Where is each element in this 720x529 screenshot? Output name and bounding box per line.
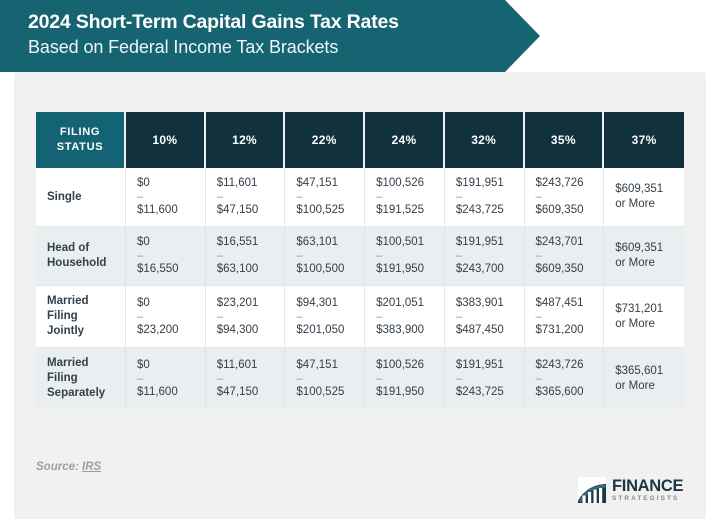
range-low: $63,101: [296, 235, 364, 250]
finance-strategists-logo: FINANCE STRATEGISTS: [578, 473, 688, 507]
cell-hoh-10: $0 – $16,550: [126, 227, 206, 286]
range-high: $191,950: [376, 262, 444, 277]
range-high: $243,725: [456, 203, 524, 218]
range-dash: –: [217, 250, 285, 262]
range-high: $47,150: [217, 385, 285, 400]
range-low: $47,151: [296, 176, 364, 191]
range-low: $243,726: [536, 358, 604, 373]
table-row: Married Filing Jointly $0 – $23,200 $23,…: [36, 286, 684, 348]
cell-hoh-22: $63,101 – $100,500: [285, 227, 365, 286]
range-low: $0: [137, 176, 205, 191]
table-row: Single $0 – $11,600 $11,601 – $47,150 $4…: [36, 168, 684, 227]
range-high: $47,150: [217, 203, 285, 218]
cell-single-35: $243,726 – $609,350: [525, 168, 605, 227]
cell-hoh-12: $16,551 – $63,100: [206, 227, 286, 286]
range-dash: –: [137, 373, 205, 385]
range-low: $11,601: [217, 358, 285, 373]
cell-mfj-10: $0 – $23,200: [126, 286, 206, 348]
filing-status-line-2: STATUS: [57, 141, 104, 153]
range-low: $191,951: [456, 235, 524, 250]
status-line: Filing: [47, 372, 78, 384]
row-label-married-filing-separately: Married Filing Separately: [36, 348, 126, 409]
range-low: $0: [137, 235, 205, 250]
range-high: $191,950: [376, 385, 444, 400]
cell-mfs-35: $243,726 – $365,600: [525, 348, 605, 409]
range-low: $47,151: [296, 358, 364, 373]
range-high: $609,350: [536, 262, 604, 277]
infographic-root: 2024 Short-Term Capital Gains Tax Rates …: [0, 0, 720, 529]
cell-single-24: $100,526 – $191,525: [365, 168, 445, 227]
range-dash: –: [536, 250, 604, 262]
range-low: $0: [137, 296, 205, 311]
cell-single-12: $11,601 – $47,150: [206, 168, 286, 227]
range-high: $11,600: [137, 203, 205, 218]
range-low: $23,201: [217, 296, 285, 311]
range-high: $609,350: [536, 203, 604, 218]
range-high: $383,900: [376, 323, 444, 338]
column-header-rate-32: 32%: [445, 112, 525, 168]
column-header-rate-22: 22%: [285, 112, 365, 168]
range-low: $201,051: [376, 296, 444, 311]
range-dash: –: [376, 373, 444, 385]
range-dash: –: [296, 311, 364, 323]
range-high: $201,050: [296, 323, 364, 338]
cell-mfj-12: $23,201 – $94,300: [206, 286, 286, 348]
cell-single-37: $609,351 or More: [604, 168, 684, 227]
column-header-rate-24: 24%: [365, 112, 445, 168]
logo-bar-chart-icon: [578, 475, 608, 505]
range-dash: –: [536, 373, 604, 385]
logo-subtitle: STRATEGISTS: [612, 496, 683, 502]
range-dash: –: [217, 191, 285, 203]
cell-mfj-22: $94,301 – $201,050: [285, 286, 365, 348]
range-dash: –: [217, 311, 285, 323]
cell-hoh-37: $609,351 or More: [604, 227, 684, 286]
cell-hoh-24: $100,501 – $191,950: [365, 227, 445, 286]
source-value: IRS: [82, 461, 101, 473]
cell-mfj-32: $383,901 – $487,450: [445, 286, 525, 348]
cell-mfj-24: $201,051 – $383,900: [365, 286, 445, 348]
range-low: $16,551: [217, 235, 285, 250]
range-low: $191,951: [456, 176, 524, 191]
range-low: $100,526: [376, 358, 444, 373]
status-line: Single: [47, 191, 82, 203]
range-high: $731,200: [536, 323, 604, 338]
table-row: Married Filing Separately $0 – $11,600 $…: [36, 348, 684, 409]
threshold-suffix: or More: [615, 256, 684, 271]
range-low: $100,526: [376, 176, 444, 191]
range-high: $243,725: [456, 385, 524, 400]
cell-single-22: $47,151 – $100,525: [285, 168, 365, 227]
range-high: $16,550: [137, 262, 205, 277]
range-dash: –: [376, 191, 444, 203]
range-dash: –: [456, 311, 524, 323]
table-header-row: FILING STATUS 10% 12% 22% 24% 32% 35% 37…: [36, 112, 684, 168]
logo-wordmark: FINANCE STRATEGISTS: [612, 478, 683, 502]
range-dash: –: [137, 250, 205, 262]
table-body: Single $0 – $11,600 $11,601 – $47,150 $4…: [36, 168, 684, 409]
range-low: $243,726: [536, 176, 604, 191]
range-dash: –: [376, 311, 444, 323]
column-header-rate-12: 12%: [206, 112, 286, 168]
banner-subtitle: Based on Federal Income Tax Brackets: [28, 35, 540, 60]
range-high: $63,100: [217, 262, 285, 277]
range-high: $487,450: [456, 323, 524, 338]
column-header-filing-status: FILING STATUS: [36, 112, 126, 168]
status-line: Married: [47, 357, 89, 369]
cell-hoh-35: $243,701 – $609,350: [525, 227, 605, 286]
row-label-married-filing-jointly: Married Filing Jointly: [36, 286, 126, 348]
cell-mfs-22: $47,151 – $100,525: [285, 348, 365, 409]
tax-rates-table: FILING STATUS 10% 12% 22% 24% 32% 35% 37…: [36, 112, 684, 409]
threshold-suffix: or More: [615, 197, 684, 212]
cell-mfs-12: $11,601 – $47,150: [206, 348, 286, 409]
range-high: $23,200: [137, 323, 205, 338]
header-banner: 2024 Short-Term Capital Gains Tax Rates …: [0, 0, 540, 72]
cell-single-32: $191,951 – $243,725: [445, 168, 525, 227]
range-low: $11,601: [217, 176, 285, 191]
column-header-rate-10: 10%: [126, 112, 206, 168]
range-low: $94,301: [296, 296, 364, 311]
cell-mfs-32: $191,951 – $243,725: [445, 348, 525, 409]
range-low: $383,901: [456, 296, 524, 311]
range-dash: –: [217, 373, 285, 385]
cell-mfs-10: $0 – $11,600: [126, 348, 206, 409]
table-header: FILING STATUS 10% 12% 22% 24% 32% 35% 37…: [36, 112, 684, 168]
range-low: $487,451: [536, 296, 604, 311]
range-dash: –: [536, 191, 604, 203]
range-high: $100,525: [296, 203, 364, 218]
range-high: $100,500: [296, 262, 364, 277]
range-high: $11,600: [137, 385, 205, 400]
range-low: $191,951: [456, 358, 524, 373]
cell-mfs-37: $365,601 or More: [604, 348, 684, 409]
range-high: $191,525: [376, 203, 444, 218]
table-row: Head of Household $0 – $16,550 $16,551 –…: [36, 227, 684, 286]
filing-status-line-1: FILING: [60, 126, 100, 138]
range-low: $0: [137, 358, 205, 373]
range-dash: –: [137, 311, 205, 323]
range-dash: –: [296, 191, 364, 203]
range-high: $243,700: [456, 262, 524, 277]
source-note: Source: IRS: [36, 461, 101, 473]
range-high: $94,300: [217, 323, 285, 338]
range-dash: –: [536, 311, 604, 323]
status-line: Jointly: [47, 325, 84, 337]
source-label: Source:: [36, 461, 79, 473]
range-low: $243,701: [536, 235, 604, 250]
cell-hoh-32: $191,951 – $243,700: [445, 227, 525, 286]
range-dash: –: [296, 250, 364, 262]
row-label-head-of-household: Head of Household: [36, 227, 126, 286]
range-dash: –: [456, 191, 524, 203]
column-header-rate-37: 37%: [604, 112, 684, 168]
status-line: Household: [47, 257, 106, 269]
range-high: $100,525: [296, 385, 364, 400]
status-line: Filing: [47, 310, 78, 322]
status-line: Separately: [47, 387, 105, 399]
tax-rates-table-wrapper: FILING STATUS 10% 12% 22% 24% 32% 35% 37…: [36, 112, 684, 409]
column-header-rate-35: 35%: [525, 112, 605, 168]
range-dash: –: [137, 191, 205, 203]
threshold-suffix: or More: [615, 317, 684, 332]
status-line: Head of: [47, 242, 89, 254]
status-line: Married: [47, 295, 89, 307]
range-dash: –: [296, 373, 364, 385]
range-high: $365,600: [536, 385, 604, 400]
threshold-amount: $609,351: [615, 241, 684, 256]
cell-mfj-37: $731,201 or More: [604, 286, 684, 348]
cell-mfj-35: $487,451 – $731,200: [525, 286, 605, 348]
threshold-amount: $365,601: [615, 364, 684, 379]
threshold-suffix: or More: [615, 379, 684, 394]
cell-single-10: $0 – $11,600: [126, 168, 206, 227]
logo-name: FINANCE: [612, 478, 683, 495]
threshold-amount: $731,201: [615, 302, 684, 317]
range-dash: –: [456, 250, 524, 262]
range-dash: –: [456, 373, 524, 385]
threshold-amount: $609,351: [615, 182, 684, 197]
range-low: $100,501: [376, 235, 444, 250]
row-label-single: Single: [36, 168, 126, 227]
range-dash: –: [376, 250, 444, 262]
banner-title: 2024 Short-Term Capital Gains Tax Rates: [28, 9, 540, 35]
cell-mfs-24: $100,526 – $191,950: [365, 348, 445, 409]
